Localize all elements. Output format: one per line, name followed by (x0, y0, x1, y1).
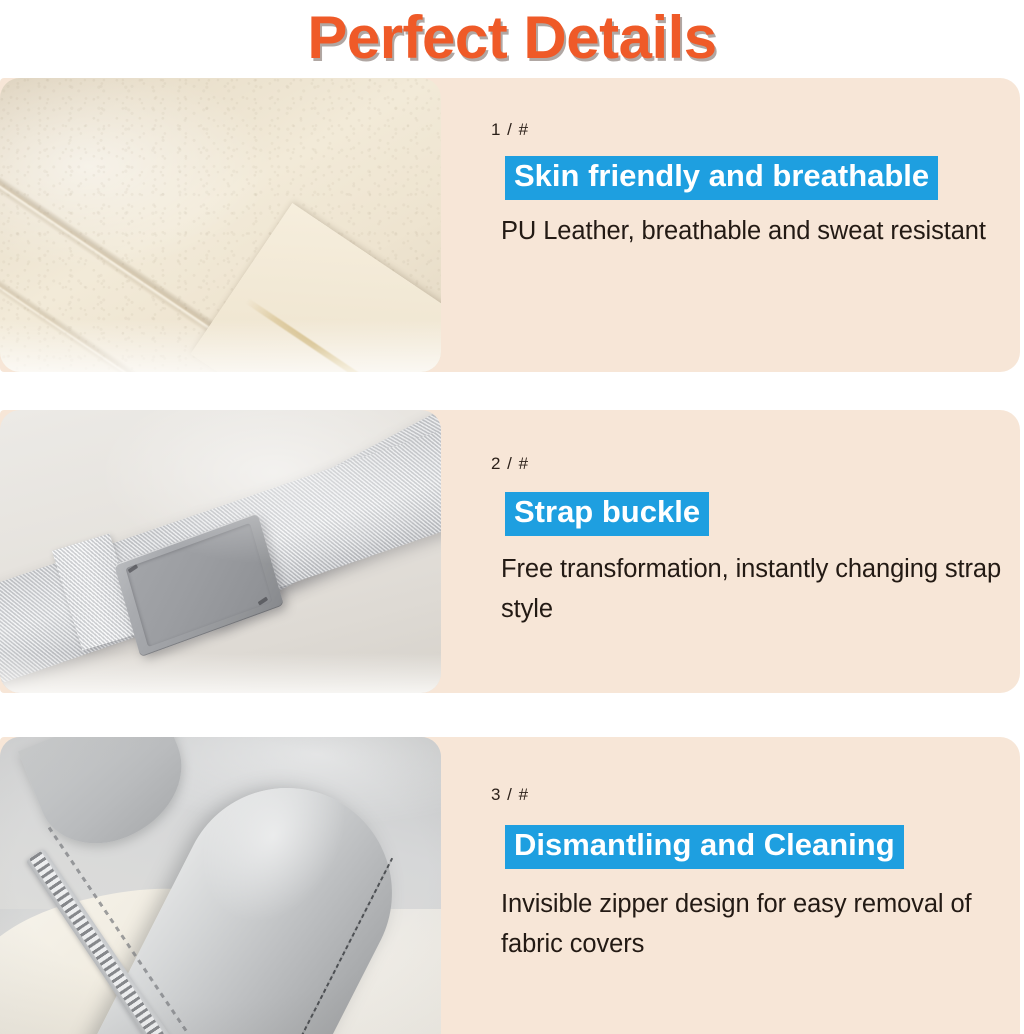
card-headline: Strap buckle (505, 492, 709, 536)
card-headline: Skin friendly and breathable (505, 156, 938, 200)
photo-vignette (0, 737, 441, 1034)
detail-card-3: 3 / # Dismantling and Cleaning Invisible… (0, 737, 1020, 1034)
detail-card-1: 1 / # Skin friendly and breathable PU Le… (0, 78, 1020, 372)
step-label: 3 / # (491, 785, 529, 805)
product-photo-cream-pu-leather-closeup (0, 78, 441, 372)
detail-card-1-text: 1 / # Skin friendly and breathable PU Le… (485, 78, 1020, 372)
card-body-text: PU Leather, breathable and sweat resista… (501, 212, 1020, 252)
product-photo-gray-strap-metal-buckle-closeup (0, 410, 441, 693)
page-title: Perfect Details (0, 0, 1024, 76)
strap-photo-surface (0, 410, 441, 693)
step-label: 2 / # (491, 454, 529, 474)
strap-photo-highlight (0, 410, 441, 693)
detail-card-3-text: 3 / # Dismantling and Cleaning Invisible… (485, 737, 1020, 1034)
card-headline: Dismantling and Cleaning (505, 825, 904, 869)
step-label: 1 / # (491, 120, 529, 140)
photo-bottom-fade (0, 653, 441, 693)
photo-bottom-fade (0, 319, 441, 372)
leather-photo-surface (0, 78, 441, 372)
detail-card-2-text: 2 / # Strap buckle Free transformation, … (485, 410, 1020, 693)
detail-card-2: 2 / # Strap buckle Free transformation, … (0, 410, 1020, 693)
zipper-photo-surface (0, 737, 441, 1034)
card-body-text: Free transformation, instantly changing … (501, 550, 1020, 630)
product-photo-gray-fabric-invisible-zipper-closeup (0, 737, 441, 1034)
card-body-text: Invisible zipper design for easy removal… (501, 885, 1020, 965)
